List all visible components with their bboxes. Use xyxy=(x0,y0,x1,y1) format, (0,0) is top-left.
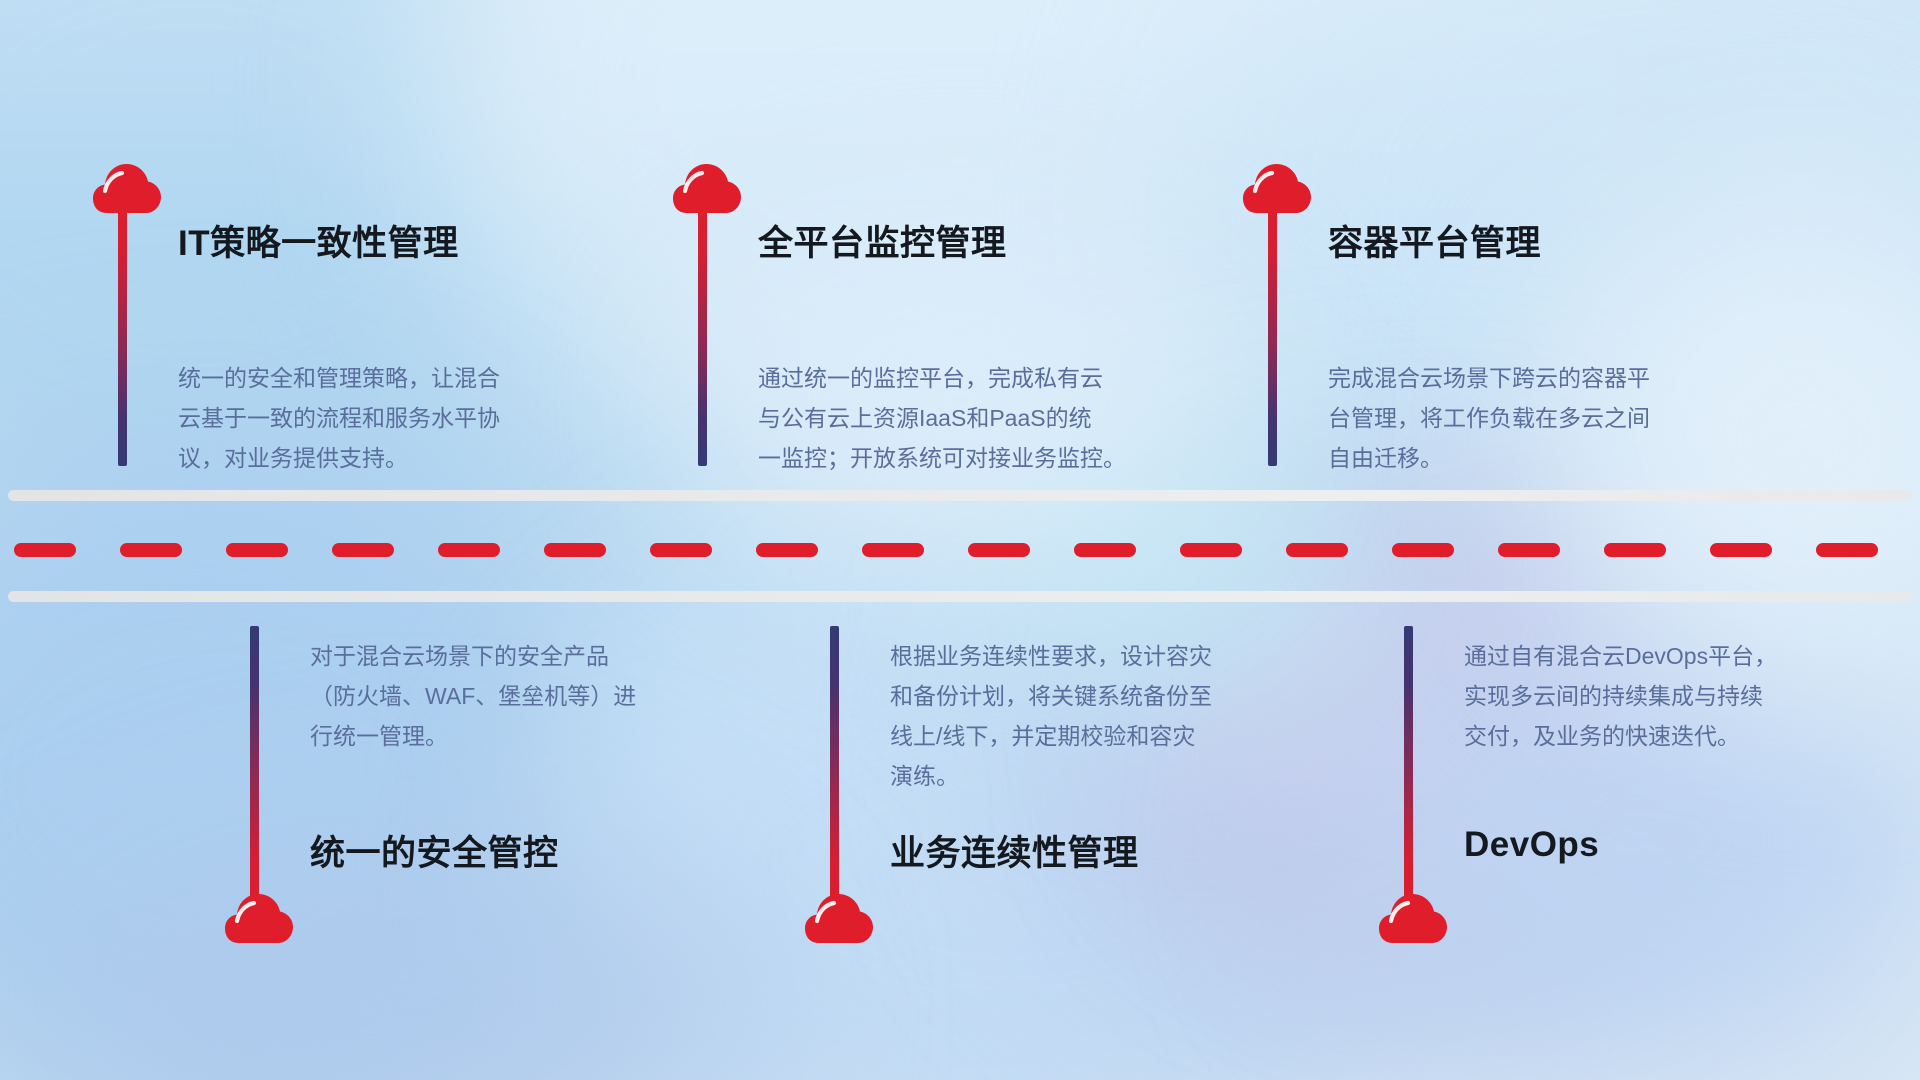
feature-body: 通过统一的监控平台，完成私有云 与公有云上资源IaaS和PaaS的统 一监控；开… xyxy=(758,358,1208,478)
road-dash xyxy=(1286,543,1348,557)
feature-title: 统一的安全管控 xyxy=(310,825,559,876)
road-dash xyxy=(1604,543,1666,557)
road-dash xyxy=(1180,543,1242,557)
connector-bar xyxy=(1268,196,1277,466)
connector-bar xyxy=(698,196,707,466)
road-dash xyxy=(14,543,76,557)
road-dash xyxy=(1392,543,1454,557)
divider-upper-rail xyxy=(8,490,1912,501)
road-dash xyxy=(438,543,500,557)
cloud-icon xyxy=(1378,890,1448,946)
feature-title: DevOps xyxy=(1464,825,1599,865)
cloud-icon xyxy=(804,890,874,946)
road-dash xyxy=(1498,543,1560,557)
cloud-icon xyxy=(672,160,742,216)
feature-title: 业务连续性管理 xyxy=(890,825,1139,876)
road-dash xyxy=(1074,543,1136,557)
road-dash xyxy=(862,543,924,557)
feature-body: 根据业务连续性要求，设计容灾 和备份计划，将关键系统备份至 线上/线下，并定期校… xyxy=(890,636,1320,796)
feature-title: 容器平台管理 xyxy=(1328,215,1541,266)
cloud-icon xyxy=(1242,160,1312,216)
feature-body: 完成混合云场景下跨云的容器平 台管理，将工作负载在多云之间 自由迁移。 xyxy=(1328,358,1758,478)
connector-bar xyxy=(1404,626,1413,916)
road-dash xyxy=(1816,543,1878,557)
road-dash xyxy=(332,543,394,557)
road-dash xyxy=(544,543,606,557)
connector-bar xyxy=(250,626,259,916)
road-dash xyxy=(120,543,182,557)
cloud-icon xyxy=(224,890,294,946)
red-dashed-road xyxy=(0,543,1920,557)
connector-bar xyxy=(118,196,127,466)
road-dash xyxy=(226,543,288,557)
divider-lower-rail xyxy=(8,591,1912,602)
feature-body: 通过自有混合云DevOps平台， 实现多云间的持续集成与持续 交付，及业务的快速… xyxy=(1464,636,1894,756)
road-dash xyxy=(968,543,1030,557)
feature-body: 对于混合云场景下的安全产品 （防火墙、WAF、堡垒机等）进 行统一管理。 xyxy=(310,636,740,756)
feature-body: 统一的安全和管理策略，让混合 云基于一致的流程和服务水平协 议，对业务提供支持。 xyxy=(178,358,608,478)
road-dash xyxy=(1710,543,1772,557)
cloud-icon xyxy=(92,160,162,216)
feature-title: 全平台监控管理 xyxy=(758,215,1007,266)
feature-title: IT策略一致性管理 xyxy=(178,215,459,266)
road-dash xyxy=(756,543,818,557)
road-dash xyxy=(650,543,712,557)
connector-bar xyxy=(830,626,839,916)
